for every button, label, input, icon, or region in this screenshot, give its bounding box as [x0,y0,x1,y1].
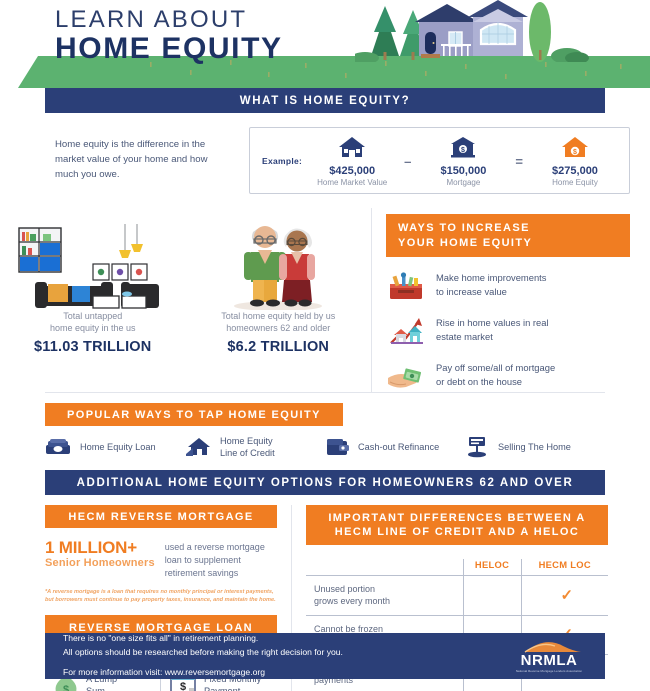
hecm-note-line-2: loan to supplement [165,554,265,567]
example-caption: Mortgage [421,178,505,187]
hecm-note-line-3: retirement savings [165,567,265,580]
example-item-mortgage: $ $150,000 Mortgage [421,135,505,187]
wallet-icon [325,436,349,458]
popular-item-label: Home Equity Line of Credit [220,435,275,460]
col-header-hecm-loc: HECM LOC [521,559,608,576]
way-item-text: Make home improvements to increase value [436,271,546,298]
way-text-line-1: Make home improvements [436,271,546,285]
comparison-header-row: HELOC HECM LOC [306,559,608,576]
popular-label-line-1: Cash-out Refinance [358,441,439,453]
row-label-line-1: Unused portion [314,583,459,595]
way-text-line-2: estate market [436,330,549,344]
example-caption: Home Equity [533,178,617,187]
living-room-illustration [4,214,182,310]
what-is-home-equity-banner: WHAT IS HOME EQUITY? [45,88,605,113]
popular-item-label: Home Equity Loan [80,441,156,453]
row-label-line-2: grows every month [314,595,459,607]
for-sale-sign-icon [465,435,489,459]
senior-couple-illustration [190,214,368,310]
operator-equals: = [513,154,525,169]
footer-line-3[interactable]: For more information visit: www.reversem… [63,666,343,680]
additional-options-banner: ADDITIONAL HOME EQUITY OPTIONS FOR HOMEO… [45,470,605,495]
row-label: Unused portion grows every month [306,576,463,615]
stat-caption-line-1: Total home equity held by us [190,310,368,322]
cell-hecm: ✓ [521,576,608,615]
cell-heloc [463,576,521,615]
stat-value: $6.2 TRILLION [190,339,368,355]
hecm-reverse-mortgage-banner: HECM REVERSE MORTGAGE [45,505,277,528]
living-room-art [5,214,180,310]
check-icon: ✓ [560,587,573,604]
popular-label-line-1: Home Equity [220,435,275,447]
example-caption: Home Market Value [310,178,394,187]
ways-title-line-1: WAYS TO INCREASE [398,221,618,236]
popular-label-line-1: Home Equity Loan [80,441,156,453]
way-item-improvements: Make home improvements to increase value [386,268,630,302]
house-growth-chart-icon [386,313,426,347]
proceeds-label-line-2: Payment [204,685,261,691]
additional-banner-wrap: ADDITIONAL HOME EQUITY OPTIONS FOR HOMEO… [0,470,650,495]
comparison-table-head: HELOC HECM LOC [306,559,608,576]
popular-label-line-1: Selling The Home [498,441,571,453]
example-box: Example: $425,000 Home Market Value – [249,127,630,194]
way-text-line-1: Pay off some/all of mortgage [436,361,555,375]
hecm-fineprint: *A reverse mortgage is a loan that requi… [45,588,277,605]
popular-item-cash-out-refinance: Cash-out Refinance [325,435,465,460]
svg-text:$: $ [63,684,69,691]
popular-item-label: Cash-out Refinance [358,441,439,453]
proceeds-label-line-2: Sum [86,685,117,691]
nrmla-arc-icon [511,640,587,653]
toolbox-icon [386,268,426,302]
hand-cash-icon [386,358,426,392]
popular-label-line-2: Line of Credit [220,447,275,459]
header: LEARN ABOUT HOME EQUITY [0,0,650,88]
ways-to-increase-section: WAYS TO INCREASE YOUR HOME EQUITY [372,208,650,392]
page-title: LEARN ABOUT HOME EQUITY [55,6,283,66]
way-text-line-2: or debt on the house [436,375,555,389]
title-line-1: LEARN ABOUT [55,6,283,34]
popular-ways-items: Home Equity Loan Home Equity Line of Cre… [0,426,650,470]
way-item-text: Rise in home values in real estate marke… [436,316,549,343]
bank-icon: $ [448,135,478,159]
nrmla-wordmark: NRMLA [511,653,587,668]
col-header-blank [306,559,463,576]
popular-banner-row: POPULAR WAYS TO TAP HOME EQUITY [0,403,650,426]
ways-to-increase-banner: WAYS TO INCREASE YOUR HOME EQUITY [386,214,630,257]
popular-item-heloc: Home Equity Line of Credit [185,435,325,460]
house-with-trees-illustration [355,0,650,62]
stat-senior-equity: Total home equity held by us homeowners … [186,208,372,392]
example-value: $425,000 [310,165,394,177]
nrmla-subtitle: National Reverse Mortgage Lenders Associ… [511,669,587,673]
stat-value: $11.03 TRILLION [4,339,182,355]
example-value: $150,000 [421,165,505,177]
way-item-market-rise: Rise in home values in real estate marke… [386,313,630,347]
way-text-line-2: to increase value [436,285,546,299]
popular-ways-section: POPULAR WAYS TO TAP HOME EQUITY Home Equ… [0,393,650,470]
house-icon [185,436,211,458]
hecm-million-value: 1 MILLION+ [45,539,155,557]
svg-text:$: $ [461,147,465,154]
title-line-2: HOME EQUITY [55,32,283,66]
footer: There is no "one size fits all" in retir… [45,633,605,679]
hecm-senior-label: Senior Homeowners [45,557,155,569]
operator-minus: – [402,154,413,169]
way-text-line-1: Rise in home values in real [436,316,549,330]
home-equity-definition: Home equity is the difference in the mar… [55,138,231,183]
popular-item-selling-the-home: Selling The Home [465,435,605,460]
way-item-pay-off: Pay off some/all of mortgage or debt on … [386,358,630,392]
popular-ways-banner: POPULAR WAYS TO TAP HOME EQUITY [45,403,343,426]
footer-line-1: There is no "one size fits all" in retir… [63,632,343,646]
comparison-title-line-2: HECM LINE OF CREDIT AND A HELOC [314,525,600,540]
nrmla-logo: NRMLA National Reverse Mortgage Lenders … [511,640,587,673]
stat-caption-line-1: Total untapped [4,310,182,322]
comparison-title-line-1: IMPORTANT DIFFERENCES BETWEEN A [314,511,600,526]
popular-item-label: Selling The Home [498,441,571,453]
stat-caption-line-2: homeowners 62 and older [190,322,368,334]
infographic-page: LEARN ABOUT HOME EQUITY WHAT IS HOME EQU… [0,0,650,691]
stat-caption-line-2: home equity in the us [4,322,182,334]
hecm-note: used a reverse mortgage loan to suppleme… [165,539,265,580]
example-item-home-equity: $ $275,000 Home Equity [533,135,617,187]
what-is-banner-wrap: WHAT IS HOME EQUITY? [0,88,650,113]
col-header-heloc: HELOC [463,559,521,576]
senior-couple-art [213,214,343,310]
footer-text: There is no "one size fits all" in retir… [63,632,343,679]
example-item-market-value: $425,000 Home Market Value [310,135,394,187]
example-label: Example: [262,156,302,166]
stats-and-ways-row: Total untapped home equity in the us $11… [0,204,650,392]
house-dollar-icon: $ [560,135,590,159]
stat-untapped-equity: Total untapped home equity in the us $11… [0,208,186,392]
example-value: $275,000 [533,165,617,177]
what-is-section: Home equity is the difference in the mar… [0,113,650,204]
stats-left: Total untapped home equity in the us $11… [0,208,372,392]
svg-text:$: $ [180,681,186,691]
hecm-note-line-1: used a reverse mortgage [165,541,265,554]
table-row: Unused portion grows every month ✓ [306,576,608,615]
comparison-banner: IMPORTANT DIFFERENCES BETWEEN A HECM LIN… [306,505,608,546]
hecm-statistic: 1 MILLION+ Senior Homeowners used a reve… [45,539,277,580]
ways-title-line-2: YOUR HOME EQUITY [398,236,618,251]
svg-text:$: $ [573,149,577,156]
house-icon [337,135,367,159]
footer-line-2: All options should be researched before … [63,646,343,660]
way-item-text: Pay off some/all of mortgage or debt on … [436,361,555,388]
cash-stack-icon [45,437,71,457]
popular-item-home-equity-loan: Home Equity Loan [45,435,185,460]
